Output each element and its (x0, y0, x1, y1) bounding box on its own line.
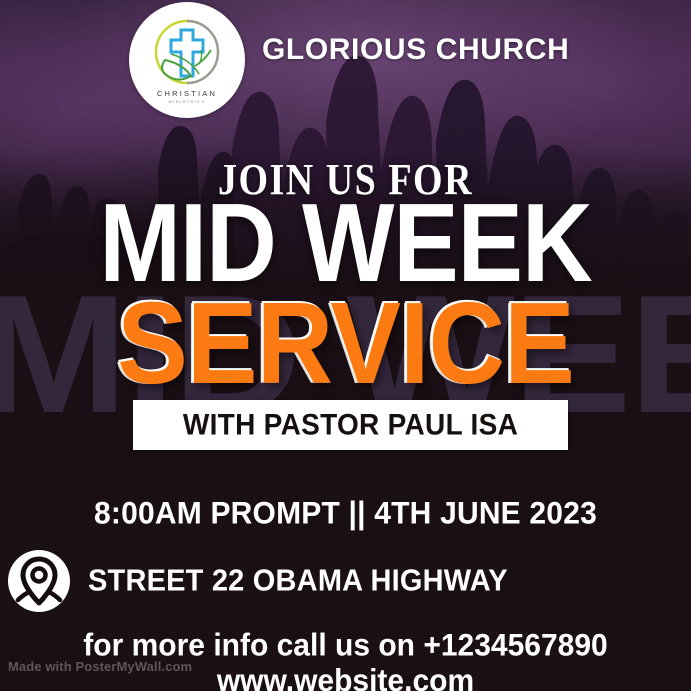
postermywall-watermark: Made with PosterMyWall.com (8, 659, 192, 674)
logo-wordmark: CHRISTIAN (157, 89, 217, 98)
speaker-banner: WITH PASTOR PAUL ISA (133, 400, 568, 450)
map-pin-icon (6, 548, 72, 614)
logo-subwordmark: MINISTRIES (169, 99, 206, 104)
event-flyer-poster: MID WEEK CHRISTIAN MINISTRIES GLORIOUS C… (0, 0, 691, 691)
poster-header: CHRISTIAN MINISTRIES GLORIOUS CHURCH (0, 0, 691, 102)
brand-name: GLORIOUS CHURCH (262, 33, 569, 67)
church-logo: CHRISTIAN MINISTRIES (129, 2, 245, 118)
speaker-label: WITH PASTOR PAUL ISA (183, 408, 518, 442)
church-cross-dove-logo-icon: CHRISTIAN MINISTRIES (135, 8, 239, 112)
event-address: STREET 22 OBAMA HIGHWAY (88, 564, 508, 599)
event-location-row: STREET 22 OBAMA HIGHWAY (0, 548, 691, 614)
headline-line-2: SERVICE (0, 286, 691, 402)
event-datetime: 8:00AM PROMPT || 4TH JUNE 2023 (0, 496, 691, 532)
